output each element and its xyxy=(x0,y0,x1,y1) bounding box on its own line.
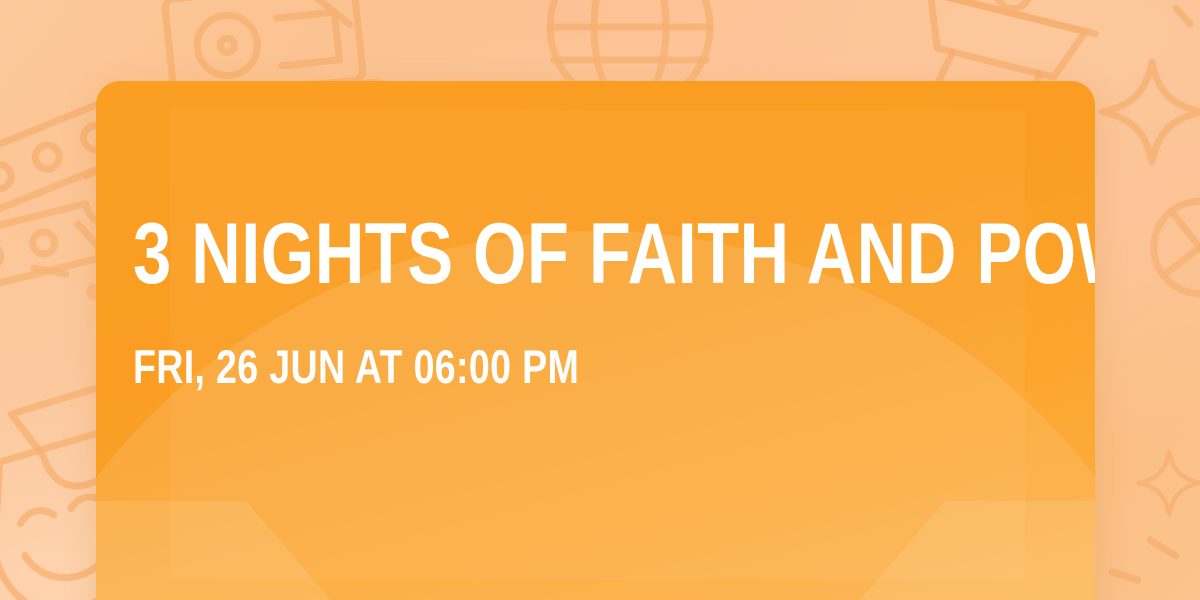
microphone-icon xyxy=(1135,183,1200,355)
page-title: 3 Nights of Faith and Power xyxy=(133,211,1095,297)
confetti-icon xyxy=(1176,8,1190,24)
card-chevron-decoration xyxy=(96,501,1095,600)
confetti-icon xyxy=(1112,540,1176,580)
sparkle-icon xyxy=(1102,62,1200,162)
event-date-text: Fri, 26 Jun at 06:00 PM xyxy=(133,343,579,390)
event-banner: 3 Nights of Faith and Power Fri, 26 Jun … xyxy=(0,0,1200,600)
event-card[interactable]: 3 Nights of Faith and Power Fri, 26 Jun … xyxy=(96,81,1095,600)
sparkle-icon xyxy=(1138,452,1200,514)
